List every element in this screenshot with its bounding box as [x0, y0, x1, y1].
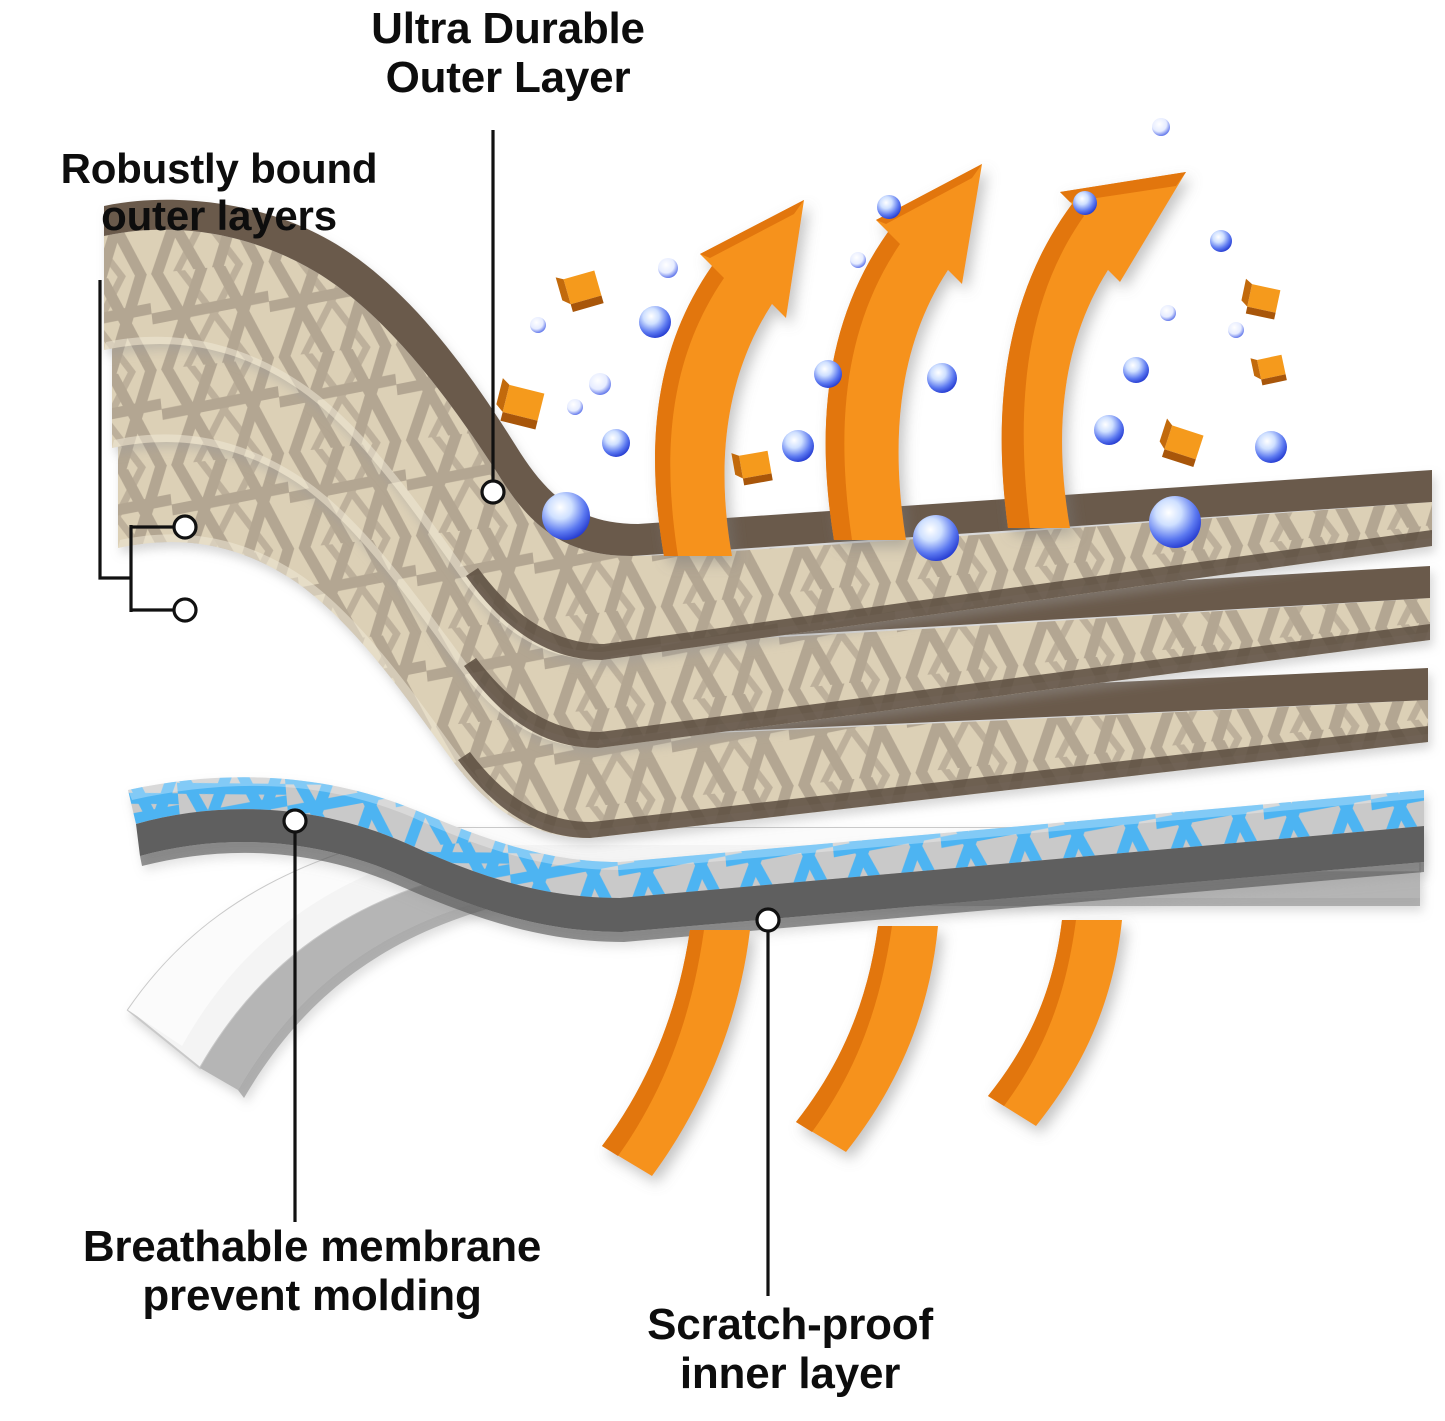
moisture-bubble	[782, 430, 814, 462]
callout-circle-bound-lower	[174, 599, 196, 621]
label-line-1: Scratch-proof	[580, 1300, 1000, 1349]
moisture-bubble	[589, 373, 611, 395]
callout-circle-inner-layer	[757, 909, 779, 931]
label-line-2: prevent molding	[2, 1271, 622, 1320]
airflow-arrows	[602, 920, 1122, 1176]
moisture-escape-arrow-3	[1002, 172, 1186, 528]
moisture-bubble	[602, 429, 630, 457]
moisture-bubble	[658, 258, 678, 278]
callout-circle-bound-upper	[174, 516, 196, 538]
diagram-canvas: Ultra Durable Outer Layer Robustly bound…	[0, 0, 1445, 1421]
moisture-escape-arrow-2	[826, 164, 982, 540]
label-breathable-membrane: Breathable membrane prevent molding	[2, 1222, 622, 1321]
label-line-1: Robustly bound	[4, 145, 434, 192]
moisture-bubble	[1149, 496, 1201, 548]
moisture-bubble	[542, 492, 590, 540]
airflow-arrow-3	[988, 920, 1122, 1126]
dirt-particle-cube	[1239, 279, 1281, 320]
label-line-1: Breathable membrane	[2, 1222, 622, 1271]
moisture-bubble	[639, 306, 671, 338]
airflow-arrow-2	[796, 926, 938, 1152]
moisture-bubble	[530, 317, 546, 333]
callout-circle-membrane	[284, 810, 306, 832]
moisture-bubble	[1123, 357, 1149, 383]
moisture-bubble	[567, 399, 583, 415]
label-line-2: inner layer	[580, 1349, 1000, 1398]
moisture-bubble	[927, 363, 957, 393]
moisture-escape-arrow-1	[655, 200, 804, 556]
moisture-bubble	[1152, 118, 1170, 136]
moisture-bubble	[1228, 322, 1244, 338]
dirt-particle-cube	[493, 378, 546, 429]
moisture-bubble	[1094, 415, 1124, 445]
label-scratch-proof-inner-layer: Scratch-proof inner layer	[580, 1300, 1000, 1399]
moisture-bubble	[1160, 305, 1176, 321]
callout-circle-outer-layer	[482, 481, 504, 503]
moisture-bubble	[877, 195, 901, 219]
dirt-particle-cube	[556, 267, 604, 314]
label-line-2: Outer Layer	[318, 53, 698, 102]
moisture-bubble	[814, 360, 842, 388]
moisture-bubble	[850, 252, 866, 268]
dirt-particle-cube	[1251, 352, 1287, 387]
label-line-2: outer layers	[4, 192, 434, 239]
label-ultra-durable-outer-layer: Ultra Durable Outer Layer	[318, 4, 698, 103]
moisture-bubble	[1073, 191, 1097, 215]
airflow-arrow-1	[602, 930, 750, 1176]
label-line-1: Ultra Durable	[318, 4, 698, 53]
dirt-particle-cube	[1155, 419, 1205, 468]
dirt-particle-cube	[731, 447, 772, 487]
moisture-bubble	[1255, 431, 1287, 463]
label-robustly-bound-outer-layers: Robustly bound outer layers	[4, 145, 434, 239]
moisture-bubble	[913, 515, 959, 561]
moisture-bubble	[1210, 230, 1232, 252]
